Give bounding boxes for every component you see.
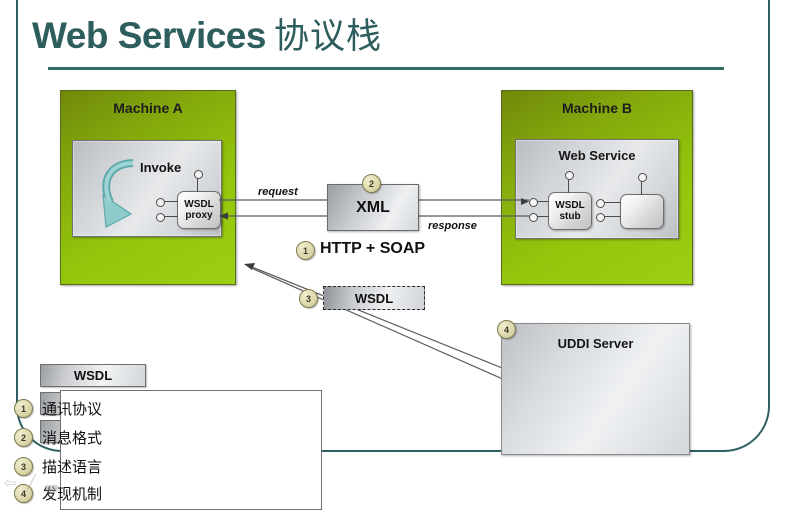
legend-badge-3: 3	[14, 457, 33, 476]
proxy-port-icon-1	[156, 198, 165, 207]
wsdl-stub-line2: stub	[559, 211, 580, 222]
impl-port-icon-1	[596, 199, 605, 208]
badge-2-message-format: 2	[362, 174, 381, 193]
uddi-server-title: UDDI Server	[502, 336, 689, 351]
legend-item-1: 1 通讯协议	[14, 398, 102, 419]
wsdl-proxy-line2: proxy	[185, 210, 212, 221]
proxy-top-port-icon	[194, 170, 203, 179]
uddi-wsdl-row-1[interactable]: WSDL	[40, 364, 146, 387]
title-underline	[48, 67, 724, 70]
pen-icon[interactable]: ╱	[27, 476, 36, 491]
stub-top-port-icon	[565, 171, 574, 180]
impl-port-stem-2	[603, 216, 621, 217]
impl-port-stem-1	[603, 202, 621, 203]
proxy-port-icon-2	[156, 213, 165, 222]
uddi-server-box: UDDI Server	[501, 323, 690, 455]
legend-badge-2: 2	[14, 428, 33, 447]
web-service-title: Web Service	[516, 148, 678, 163]
xml-label: XML	[356, 199, 390, 217]
request-label: request	[258, 186, 298, 198]
http-soap-label: HTTP + SOAP	[320, 240, 425, 258]
wsdl-artifact-label: WSDL	[355, 291, 393, 306]
page-title: Web Services协议栈	[32, 8, 382, 59]
legend-label-2: 消息格式	[42, 427, 102, 448]
uddi-wsdl-label-1: WSDL	[74, 368, 112, 383]
impl-top-port-icon	[638, 173, 647, 182]
wsdl-proxy-line1: WSDL	[184, 199, 213, 210]
legend-label-1: 通讯协议	[42, 398, 102, 419]
wsdl-proxy-node: WSDL proxy	[177, 191, 221, 229]
legend-badge-1: 1	[14, 399, 33, 418]
impl-port-icon-2	[596, 213, 605, 222]
wsdl-stub-node: WSDL stub	[548, 192, 592, 230]
machine-a-title: Machine A	[61, 100, 235, 116]
legend-item-3: 3 描述语言	[14, 456, 102, 477]
invoke-label: Invoke	[140, 160, 181, 175]
page-title-en: Web Services	[32, 15, 266, 56]
stub-port-icon-1	[529, 198, 538, 207]
back-arrow-icon[interactable]: ⇦	[4, 476, 17, 491]
badge-1-protocol: 1	[296, 241, 315, 260]
bar-icon[interactable]: ▃	[46, 476, 58, 491]
response-label: response	[428, 220, 477, 232]
machine-b-title: Machine B	[502, 100, 692, 116]
proxy-port-stem-1	[163, 201, 178, 202]
legend-label-3: 描述语言	[42, 456, 102, 477]
wsdl-stub-line1: WSDL	[555, 200, 584, 211]
page-title-cn: 协议栈	[274, 17, 382, 57]
wsdl-artifact-box: WSDL	[323, 286, 425, 310]
proxy-port-stem-2	[163, 216, 178, 217]
service-implementation-node	[620, 194, 664, 229]
stub-port-icon-2	[529, 213, 538, 222]
legend-item-2: 2 消息格式	[14, 427, 102, 448]
presentation-tool-strip[interactable]: ⇦ ╱ ▃	[4, 476, 57, 491]
badge-4-discovery: 4	[497, 320, 516, 339]
badge-3-description-language: 3	[299, 289, 318, 308]
